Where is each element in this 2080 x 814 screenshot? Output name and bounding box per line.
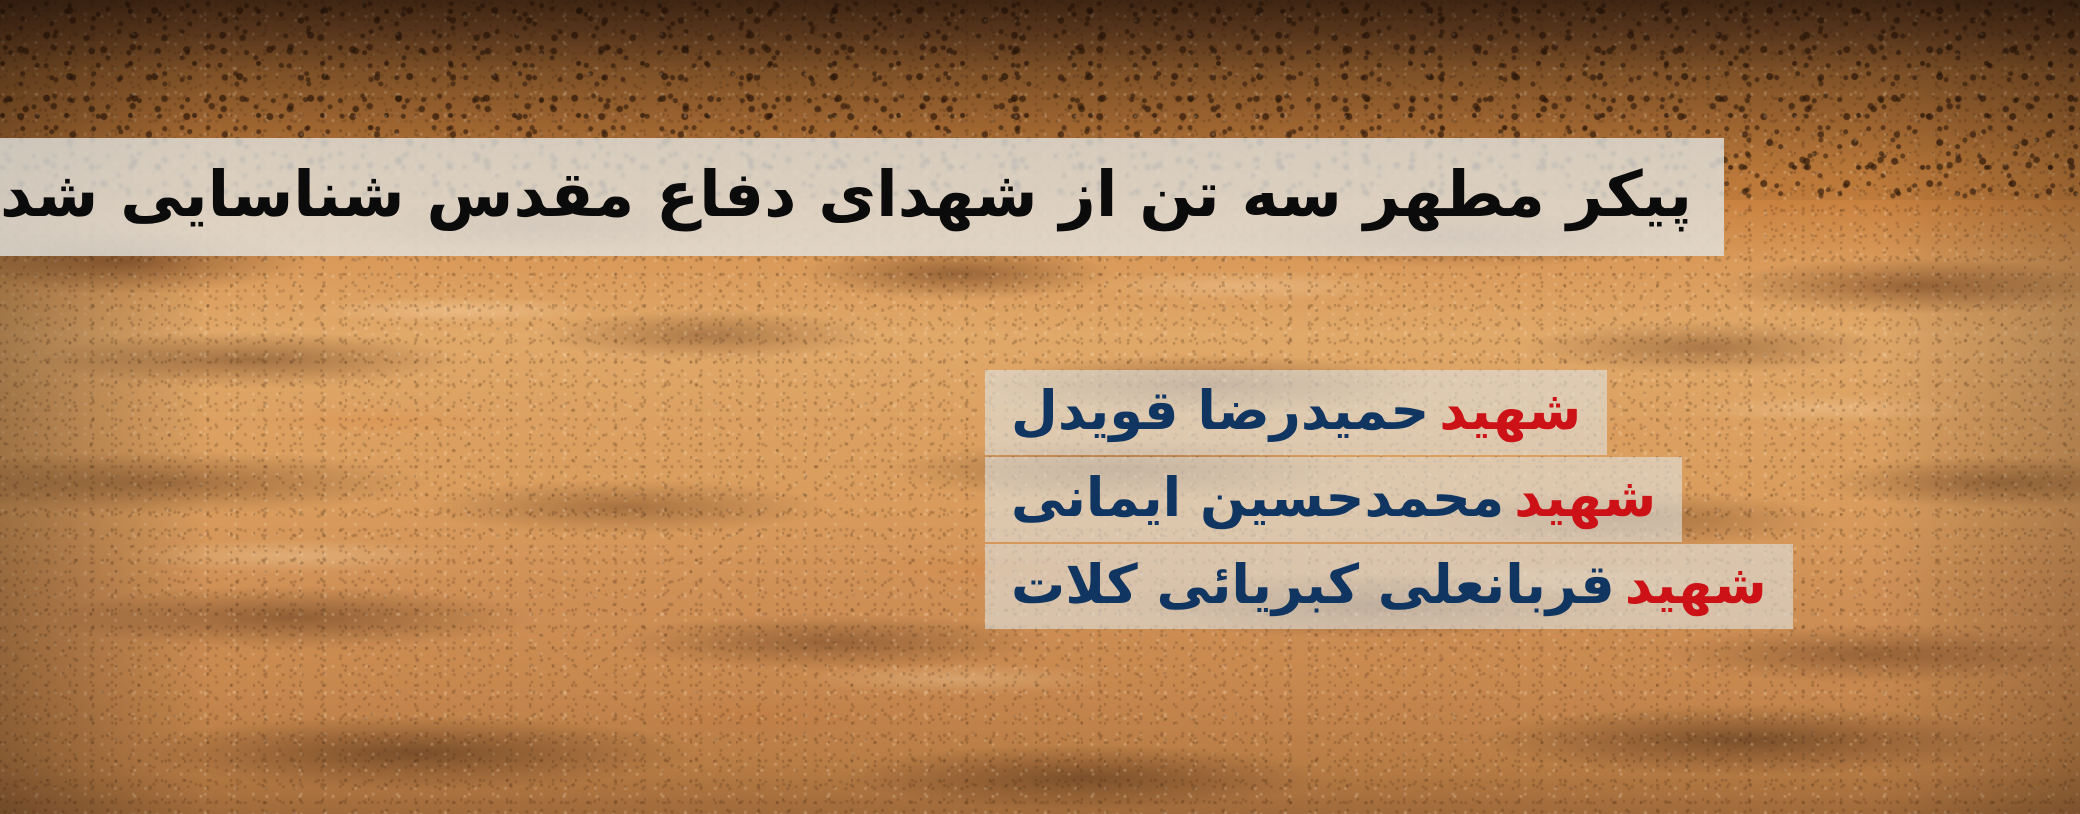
martyr-prefix-label: شهید (1625, 553, 1767, 616)
martyr-prefix-label: شهید (1439, 379, 1581, 442)
martyr-name-label: قربانعلی کبریائی کلات (1011, 553, 1615, 616)
list-item: شهیدمحمدحسین ایمانی (985, 457, 1682, 542)
list-item: شهیدقربانعلی کبریائی کلات (985, 544, 1793, 629)
headline-band: پیکر مطهر سه تن از شهدای دفاع مقدس شناسا… (0, 138, 1724, 256)
martyr-name-label: حمیدرضا قویدل (1011, 379, 1429, 442)
list-item: شهیدحمیدرضا قویدل (985, 370, 1607, 455)
banner-image: پیکر مطهر سه تن از شهدای دفاع مقدس شناسا… (0, 0, 2080, 814)
martyr-names-list: شهیدحمیدرضا قویدل شهیدمحمدحسین ایمانی شه… (955, 352, 1724, 655)
martyr-name-label: محمدحسین ایمانی (1011, 466, 1504, 529)
page-title: پیکر مطهر سه تن از شهدای دفاع مقدس شناسا… (0, 162, 1692, 228)
martyr-prefix-label: شهید (1514, 466, 1656, 529)
